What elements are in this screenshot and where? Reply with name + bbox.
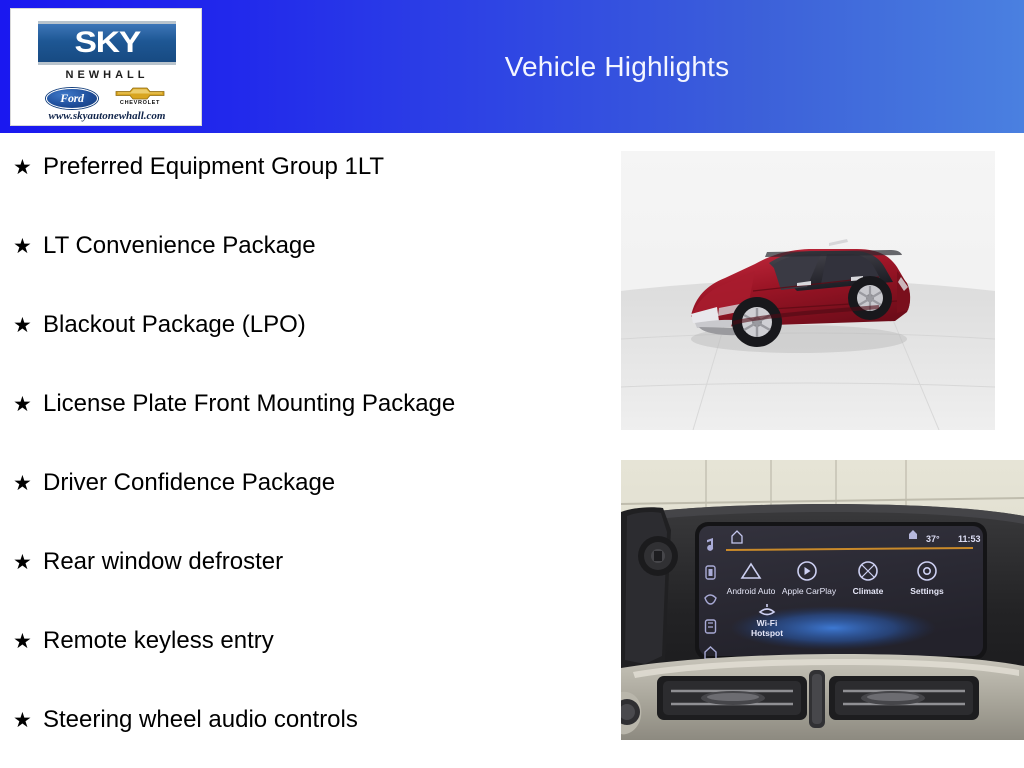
star-bullet-icon: ★: [13, 236, 43, 257]
settings-label: Settings: [910, 586, 944, 596]
list-item: ★ Remote keyless entry: [0, 628, 600, 707]
list-item: ★ Preferred Equipment Group 1LT: [0, 154, 600, 233]
highlights-list: ★ Preferred Equipment Group 1LT ★ LT Con…: [0, 140, 600, 768]
franchise-badges: Ford CHEVROLET: [11, 85, 202, 111]
star-bullet-icon: ★: [13, 315, 43, 336]
list-item: ★ LT Convenience Package: [0, 233, 600, 312]
android-auto-label: Android Auto: [727, 586, 776, 596]
list-item: ★ Blackout Package (LPO): [0, 312, 600, 391]
list-item-label: Steering wheel audio controls: [43, 707, 358, 733]
infotainment-photo[interactable]: 37° 11:53 Android Auto Apple CarPlay Cli…: [621, 460, 1024, 740]
apple-carplay-label: Apple CarPlay: [782, 586, 837, 596]
list-item: ★ License Plate Front Mounting Package: [0, 391, 600, 470]
ford-logo-text: Ford: [60, 91, 83, 106]
star-bullet-icon: ★: [13, 394, 43, 415]
list-item-label: Preferred Equipment Group 1LT: [43, 154, 384, 180]
star-bullet-icon: ★: [13, 473, 43, 494]
list-item-label: Blackout Package (LPO): [43, 312, 306, 338]
list-item: ★ Rear window defroster: [0, 549, 600, 628]
climate-label: Climate: [853, 586, 884, 596]
list-item-label: License Plate Front Mounting Package: [43, 391, 455, 417]
chevrolet-bowtie-icon: [115, 87, 165, 100]
star-bullet-icon: ★: [13, 631, 43, 652]
chevrolet-logo-text: CHEVROLET: [112, 100, 168, 106]
list-item: ★ Steering wheel audio controls: [0, 707, 600, 768]
ford-logo-icon: Ford: [46, 88, 98, 109]
list-item-label: Remote keyless entry: [43, 628, 274, 654]
list-item-label: Driver Confidence Package: [43, 470, 335, 496]
status-temperature: 37°: [926, 534, 940, 544]
star-bullet-icon: ★: [13, 710, 43, 731]
star-bullet-icon: ★: [13, 157, 43, 178]
sky-logo-text: SKY: [74, 28, 140, 58]
dealer-website-url[interactable]: www.skyautonewhall.com: [11, 110, 202, 122]
vehicle-photo-graphic: [621, 151, 995, 430]
wifi-hotspot-label-2: Hotspot: [751, 628, 783, 638]
chevrolet-logo-icon: CHEVROLET: [112, 86, 168, 110]
star-bullet-icon: ★: [13, 552, 43, 573]
list-item-label: LT Convenience Package: [43, 233, 316, 259]
list-item-label: Rear window defroster: [43, 549, 283, 575]
wifi-hotspot-label-1: Wi-Fi: [757, 618, 778, 628]
list-item: ★ Driver Confidence Package: [0, 470, 600, 549]
sky-logo-plate: SKY: [38, 21, 176, 65]
dealer-location-text: NEWHALL: [11, 69, 202, 81]
dealer-logo[interactable]: SKY NEWHALL Ford CHEVROLET www.skyautone…: [10, 8, 202, 126]
status-time: 11:53: [958, 534, 981, 544]
infotainment-photo-graphic: 37° 11:53 Android Auto Apple CarPlay Cli…: [621, 460, 1024, 740]
slide-root: Vehicle Highlights SKY NEWHALL Ford CHEV…: [0, 0, 1024, 768]
page-title: Vehicle Highlights: [210, 0, 1024, 133]
vehicle-exterior-photo[interactable]: [621, 151, 995, 430]
